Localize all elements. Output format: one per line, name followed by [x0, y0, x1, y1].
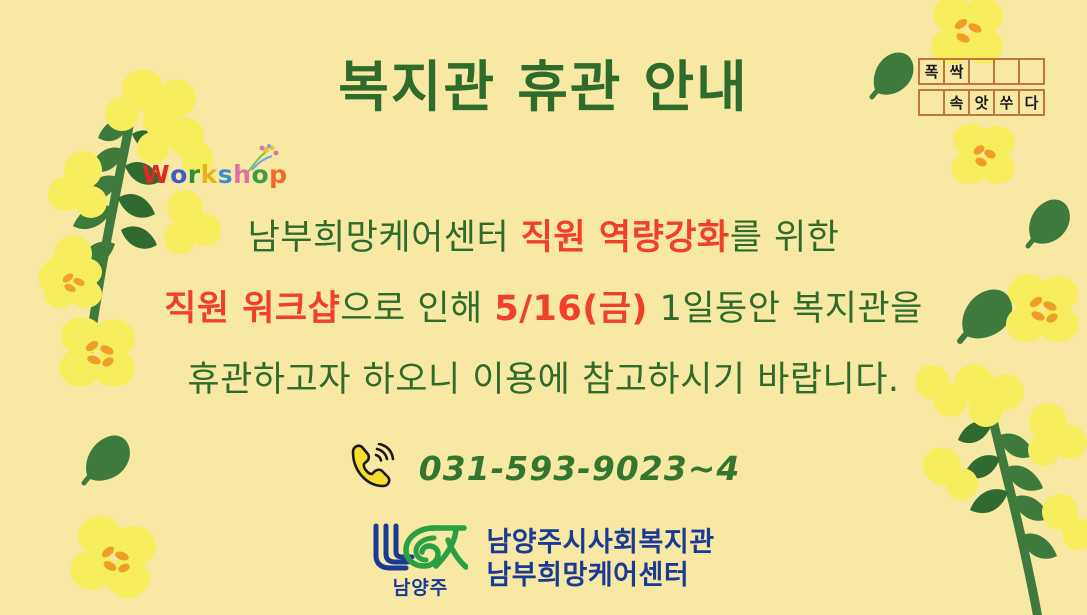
line2-emphasis-1: 직원 워크샵 — [164, 289, 340, 329]
phone-handset-icon — [347, 443, 397, 494]
crossword-cell — [918, 89, 945, 116]
line2-part2: 1일동안 복지관을 — [648, 289, 923, 329]
announcement-line-3: 휴관하고자 하오니 이용에 참고하시기 바랍니다. — [0, 345, 1087, 416]
crossword-row-2: 속 앗 쑤 다 — [918, 89, 1060, 116]
phone-number: 031-593-9023~4 — [419, 449, 741, 488]
flower-blossom-decoration-6 — [945, 120, 1021, 192]
organization-line-2: 남부희망케어센터 — [486, 559, 714, 592]
announcement-line-2: 직원 워크샵으로 인해 5/16(금) 1일동안 복지관을 — [0, 274, 1087, 345]
small-flower-icon — [242, 144, 284, 180]
logo-city-name: 남양주 — [372, 573, 468, 600]
footer-logo-block: 남양주 남양주시사회복지관 남부희망케어센터 — [0, 520, 1087, 598]
workshop-letter-0: W — [142, 160, 170, 189]
line3-part1: 휴관하고자 하오니 이용에 참고하시기 바랍니다. — [187, 360, 899, 400]
crossword-cell — [968, 58, 995, 85]
crossword-grid: 폭 싹 속 앗 쑤 다 — [918, 58, 1060, 116]
workshop-letter-2: r — [188, 160, 201, 189]
crossword-cell: 싹 — [943, 58, 970, 85]
crossword-cell: 폭 — [918, 58, 945, 85]
workshop-label: Workshop — [142, 160, 288, 189]
crossword-cell: 쑤 — [993, 89, 1020, 116]
workshop-letter-3: k — [201, 160, 218, 189]
crossword-cell: 속 — [943, 89, 970, 116]
namyangju-logo-icon: 남양주 — [372, 520, 468, 598]
line2-part1: 으로 인해 — [340, 289, 494, 329]
organization-line-1: 남양주시사회복지관 — [486, 526, 714, 559]
contact-row: 031-593-9023~4 — [0, 443, 1087, 494]
line1-emphasis: 직원 역량강화 — [521, 218, 730, 258]
workshop-letter-1: o — [170, 160, 188, 189]
crossword-cell: 앗 — [968, 89, 995, 116]
announcement-line-1: 남부희망케어센터 직원 역량강화를 위한 — [0, 203, 1087, 274]
line2-emphasis-2: 5/16(금) — [494, 289, 648, 329]
crossword-cell — [993, 58, 1020, 85]
workshop-letter-4: s — [218, 160, 233, 189]
announcement-body: 남부희망케어센터 직원 역량강화를 위한 직원 워크샵으로 인해 5/16(금)… — [0, 203, 1087, 416]
crossword-cell — [1018, 58, 1045, 85]
poster-canvas: 복지관 휴관 안내 Workshop 남부희망케어센터 직원 역량강화를 위한 … — [0, 0, 1087, 615]
organization-name: 남양주시사회복지관 남부희망케어센터 — [486, 526, 714, 592]
crossword-row-1: 폭 싹 — [918, 58, 1060, 85]
crossword-cell: 다 — [1018, 89, 1045, 116]
line1-part2: 를 위한 — [730, 218, 840, 258]
line1-part1: 남부희망케어센터 — [248, 218, 521, 258]
